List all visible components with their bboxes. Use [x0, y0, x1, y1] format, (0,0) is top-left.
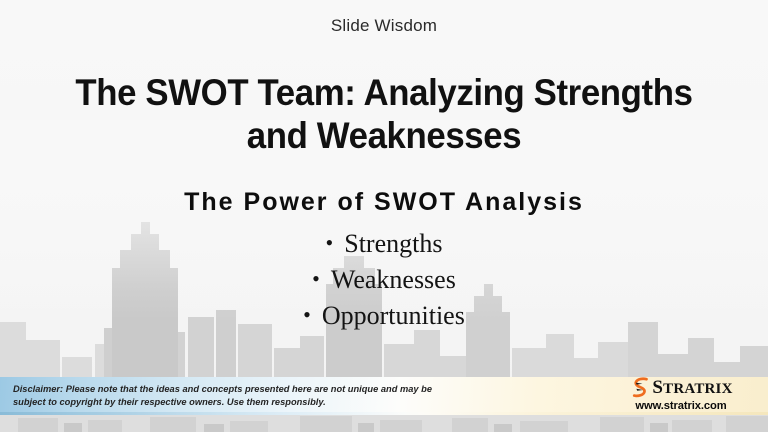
- brand-logo-row: STRATRIX: [602, 376, 760, 399]
- brand-name-rest: TRATRIX: [663, 381, 732, 397]
- presentation-slide: Slide Wisdom The SWOT Team: Analyzing St…: [0, 0, 768, 432]
- list-item: •Weaknesses: [0, 262, 768, 298]
- list-item: •Opportunities: [0, 298, 768, 334]
- slide-eyebrow: Slide Wisdom: [0, 16, 768, 36]
- stratrix-swoosh-icon: [629, 376, 651, 399]
- bullet-list: •Strengths •Weaknesses •Opportunities: [0, 226, 768, 334]
- list-item-label: Opportunities: [322, 301, 465, 330]
- bullet-point-icon: •: [326, 228, 334, 258]
- bullet-point-icon: •: [303, 300, 311, 330]
- list-item-label: Strengths: [344, 229, 442, 258]
- brand-name: STRATRIX: [652, 378, 732, 397]
- slide-subtitle: The Power of SWOT Analysis: [0, 188, 768, 217]
- brand-logo[interactable]: STRATRIX www.stratrix.com: [602, 376, 760, 416]
- disclaimer-text: Disclaimer: Please note that the ideas a…: [13, 383, 443, 409]
- slide-title: The SWOT Team: Analyzing Strengths and W…: [66, 72, 701, 158]
- bullet-point-icon: •: [312, 264, 320, 294]
- brand-url[interactable]: www.stratrix.com: [602, 400, 760, 412]
- list-item-label: Weaknesses: [331, 265, 456, 294]
- list-item: •Strengths: [0, 226, 768, 262]
- brand-name-lead: S: [652, 377, 663, 398]
- bottom-skyline-strip: [0, 415, 768, 432]
